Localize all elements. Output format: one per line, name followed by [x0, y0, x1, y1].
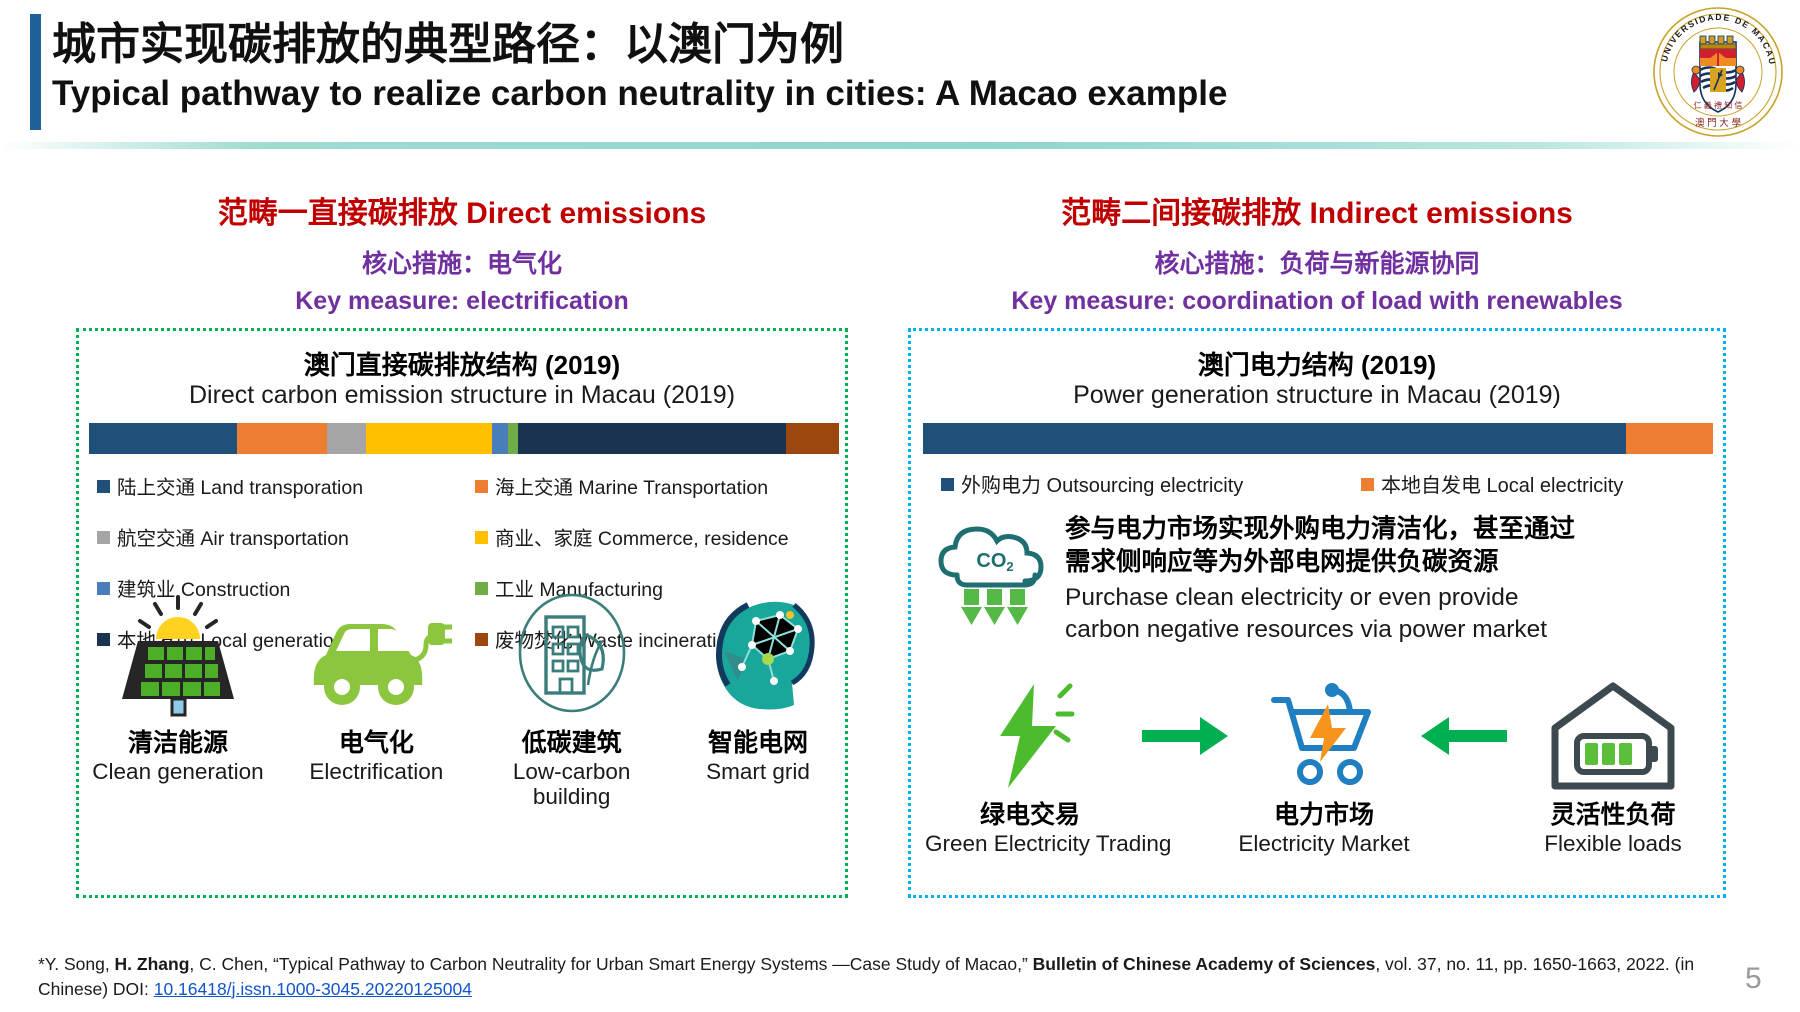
co2-cloud-icon: CO2 [933, 513, 1061, 636]
message-cn-line2: 需求侧响应等为外部电网提供负碳资源 [1065, 546, 1575, 579]
label-cn: 灵活性负荷 [1513, 795, 1713, 831]
legend-swatch [97, 531, 110, 544]
svg-text:仁 義 禮 知 信: 仁 義 禮 知 信 [1694, 100, 1743, 110]
shopping-cart-bolt-icon [1234, 677, 1414, 795]
citation-footnote: *Y. Song, H. Zhang, C. Chen, “Typical Pa… [38, 952, 1698, 1002]
bar-segment [89, 423, 237, 454]
label-cn: 电气化 [282, 723, 470, 759]
bar-segment [327, 423, 365, 454]
house-battery-icon [1513, 677, 1713, 795]
legend-label: 陆上交通 Land transporation [117, 471, 363, 500]
bar-segment [366, 423, 492, 454]
legend-swatch [475, 480, 488, 493]
legend-row: 外购电力 Outsourcing electricity本地自发电 Local … [941, 469, 1701, 498]
left-column-heading-group: 范畴一直接碳排放 Direct emissions 核心措施：电气化 Key m… [76, 188, 848, 316]
slide-header: 城市实现碳排放的典型路径：以澳门为例 Typical pathway to re… [0, 0, 1800, 148]
legend-label: 航空交通 Air transportation [117, 522, 349, 551]
page-title-chinese: 城市实现碳排放的典型路径：以澳门为例 [52, 8, 844, 72]
page-title-english: Typical pathway to realize carbon neutra… [52, 74, 1227, 114]
power-generation-legend: 外购电力 Outsourcing electricity本地自发电 Local … [941, 469, 1701, 498]
direct-emissions-panel: 澳门直接碳排放结构 (2019) Direct carbon emission … [76, 328, 848, 898]
flow-green-electricity-trading[interactable]: 绿电交易 Green Electricity Trading [925, 677, 1135, 857]
bar-segment [508, 423, 518, 454]
bar-segment [492, 423, 509, 454]
page-number: 5 [1745, 962, 1762, 996]
legend-swatch [1361, 478, 1374, 491]
citation-part1: *Y. Song, [38, 954, 115, 974]
citation-journal-bold: Bulletin of Chinese Academy of Sciences [1033, 954, 1376, 974]
electric-car-icon [282, 589, 470, 717]
market-flow-row: 绿电交易 Green Electricity Trading [925, 677, 1713, 857]
legend-item: 海上交通 Marine Transportation [475, 471, 768, 500]
right-heading-scope: 范畴二间接碳排放 Indirect emissions [908, 188, 1726, 232]
right-heading-measure-en: Key measure: coordination of load with r… [908, 287, 1726, 316]
bar-segment [518, 423, 787, 454]
right-chart-title-cn: 澳门电力结构 (2019) [911, 345, 1723, 382]
legend-item: 陆上交通 Land transporation [97, 471, 475, 500]
svg-text:澳 門 大 學: 澳 門 大 學 [1695, 117, 1741, 129]
right-column-heading-group: 范畴二间接碳排放 Indirect emissions 核心措施：负荷与新能源协… [908, 188, 1726, 316]
label-cn: 低碳建筑 [484, 723, 660, 759]
header-divider [0, 142, 1800, 149]
label-cn: 绿电交易 [925, 795, 1135, 831]
left-chart-title-en: Direct carbon emission structure in Maca… [79, 381, 845, 410]
university-of-macau-seal: UNIVERSIDADE DE MACAU [1652, 6, 1784, 138]
flow-flexible-loads[interactable]: 灵活性负荷 Flexible loads [1513, 677, 1713, 857]
indirect-emissions-panel: 澳门电力结构 (2019) Power generation structure… [908, 328, 1726, 898]
bar-segment [1626, 423, 1713, 454]
left-chart-title-cn: 澳门直接碳排放结构 (2019) [79, 345, 845, 382]
solar-panel-icon [87, 589, 269, 717]
indirect-measure-message: CO2 参与电力市场实现外购电力清洁化，甚至通过 需求侧响应等为外部电网提供负碳… [933, 513, 1723, 646]
power-generation-stacked-bar [923, 423, 1713, 454]
label-cn: 智能电网 [673, 723, 843, 759]
slide-canvas: 城市实现碳排放的典型路径：以澳门为例 Typical pathway to re… [0, 0, 1800, 1012]
legend-swatch [475, 531, 488, 544]
measure-low-carbon-building[interactable]: 低碳建筑 Low-carbon building [484, 589, 660, 809]
label-en: Flexible loads [1513, 831, 1713, 857]
message-cn-line1: 参与电力市场实现外购电力清洁化，甚至通过 [1065, 513, 1575, 546]
measure-smart-grid[interactable]: 智能电网 Smart grid [673, 589, 843, 809]
arrow-right-icon [1142, 677, 1228, 795]
legend-label: 外购电力 Outsourcing electricity [961, 469, 1243, 498]
arrow-left-icon [1421, 677, 1507, 795]
label-en: Electricity Market [1234, 831, 1414, 857]
legend-item: 本地自发电 Local electricity [1361, 469, 1623, 498]
label-en: Low-carbon building [484, 759, 660, 809]
legend-row: 航空交通 Air transportation商业、家庭 Commerce, r… [97, 522, 835, 551]
label-cn: 电力市场 [1234, 795, 1414, 831]
legend-swatch [97, 480, 110, 493]
bar-segment [923, 423, 1626, 454]
left-measure-icon-row: 清洁能源 Clean generation [87, 589, 843, 809]
label-en: Clean generation [87, 759, 269, 784]
label-en: Smart grid [673, 759, 843, 784]
bar-segment [237, 423, 327, 454]
legend-label: 海上交通 Marine Transportation [495, 471, 768, 500]
green-lightning-icon [925, 677, 1135, 795]
measure-clean-generation[interactable]: 清洁能源 Clean generation [87, 589, 269, 809]
right-heading-measure-cn: 核心措施：负荷与新能源协同 [908, 244, 1726, 280]
message-en-line1: Purchase clean electricity or even provi… [1065, 582, 1575, 614]
citation-author-bold: H. Zhang [115, 954, 190, 974]
doi-link[interactable]: 10.16418/j.issn.1000-3045.20220125004 [154, 979, 472, 999]
message-en-line2: carbon negative resources via power mark… [1065, 614, 1575, 646]
legend-item: 航空交通 Air transportation [97, 522, 475, 551]
citation-part2: , C. Chen, “Typical Pathway to Carbon Ne… [189, 954, 1032, 974]
direct-emission-stacked-bar [89, 423, 839, 454]
smart-grid-brain-icon [673, 589, 843, 717]
left-heading-measure-en: Key measure: electrification [76, 287, 848, 316]
legend-item: 外购电力 Outsourcing electricity [941, 469, 1361, 498]
legend-swatch [941, 478, 954, 491]
svg-text:CO2: CO2 [976, 550, 1013, 574]
green-building-icon [484, 589, 660, 717]
legend-label: 商业、家庭 Commerce, residence [495, 522, 789, 551]
right-chart-title-en: Power generation structure in Macau (201… [911, 381, 1723, 410]
left-heading-scope: 范畴一直接碳排放 Direct emissions [76, 188, 848, 232]
label-en: Electrification [282, 759, 470, 784]
bar-segment [786, 423, 839, 454]
legend-row: 陆上交通 Land transporation海上交通 Marine Trans… [97, 471, 835, 500]
message-text-group: 参与电力市场实现外购电力清洁化，甚至通过 需求侧响应等为外部电网提供负碳资源 P… [1065, 513, 1575, 646]
label-en: Green Electricity Trading [925, 831, 1135, 857]
label-cn: 清洁能源 [87, 723, 269, 759]
measure-electrification[interactable]: 电气化 Electrification [282, 589, 470, 809]
flow-electricity-market[interactable]: 电力市场 Electricity Market [1234, 677, 1414, 857]
legend-label: 本地自发电 Local electricity [1381, 469, 1623, 498]
title-accent-bar [30, 14, 41, 130]
left-heading-measure-cn: 核心措施：电气化 [76, 244, 848, 280]
legend-item: 商业、家庭 Commerce, residence [475, 522, 789, 551]
